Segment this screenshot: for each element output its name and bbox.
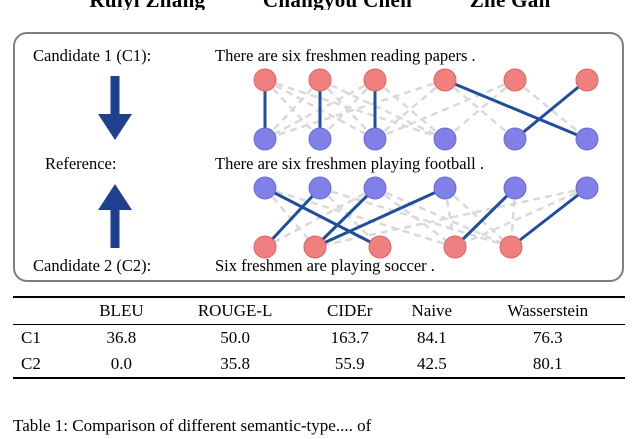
results-table: BLEU ROUGE-L CIDEr Naive Wasserstein C1 … [13,296,625,377]
table-bottom-rule [13,377,625,379]
cell-c2-bleu: 0.0 [79,351,164,377]
table-col-header-naive: Naive [393,297,471,325]
cell-c1-rouge: 50.0 [164,325,307,352]
table-caption: Table 1: Comparison of different semanti… [13,416,625,439]
row-label-c2: C2 [13,351,79,377]
bipartite-graph [15,34,622,280]
cell-c1-bleu: 36.8 [79,325,164,352]
author-name-3: Zhe Gan [470,0,551,10]
cell-c1-wasserstein: 76.3 [471,325,625,352]
author-name-1: Ruiyi Zhang [89,0,205,10]
cell-c2-naive: 42.5 [393,351,471,377]
cell-c2-cider: 55.9 [306,351,393,377]
table-col-header-wasserstein: Wasserstein [471,297,625,325]
table-row: C2 0.0 35.8 55.9 42.5 80.1 [13,351,625,377]
table-header-row: BLEU ROUGE-L CIDEr Naive Wasserstein [13,297,625,325]
cell-c1-naive: 84.1 [393,325,471,352]
cell-c1-cider: 163.7 [306,325,393,352]
cell-c2-wasserstein: 80.1 [471,351,625,377]
table-col-header-bleu: BLEU [79,297,164,325]
table-col-header-cider: CIDEr [306,297,393,325]
author-line: Ruiyi Zhang Changyou Chen Zhe Gan [0,0,640,10]
results-table-wrapper: BLEU ROUGE-L CIDEr Naive Wasserstein C1 … [13,296,625,379]
table-col-header-rouge: ROUGE-L [164,297,307,325]
figure-panel: Candidate 1 (C1): There are six freshmen… [13,32,624,282]
cell-c2-rouge: 35.8 [164,351,307,377]
table-col-header-0 [13,297,79,325]
row-label-c1: C1 [13,325,79,352]
table-row: C1 36.8 50.0 163.7 84.1 76.3 [13,325,625,352]
author-name-2: Changyou Chen [263,0,412,10]
